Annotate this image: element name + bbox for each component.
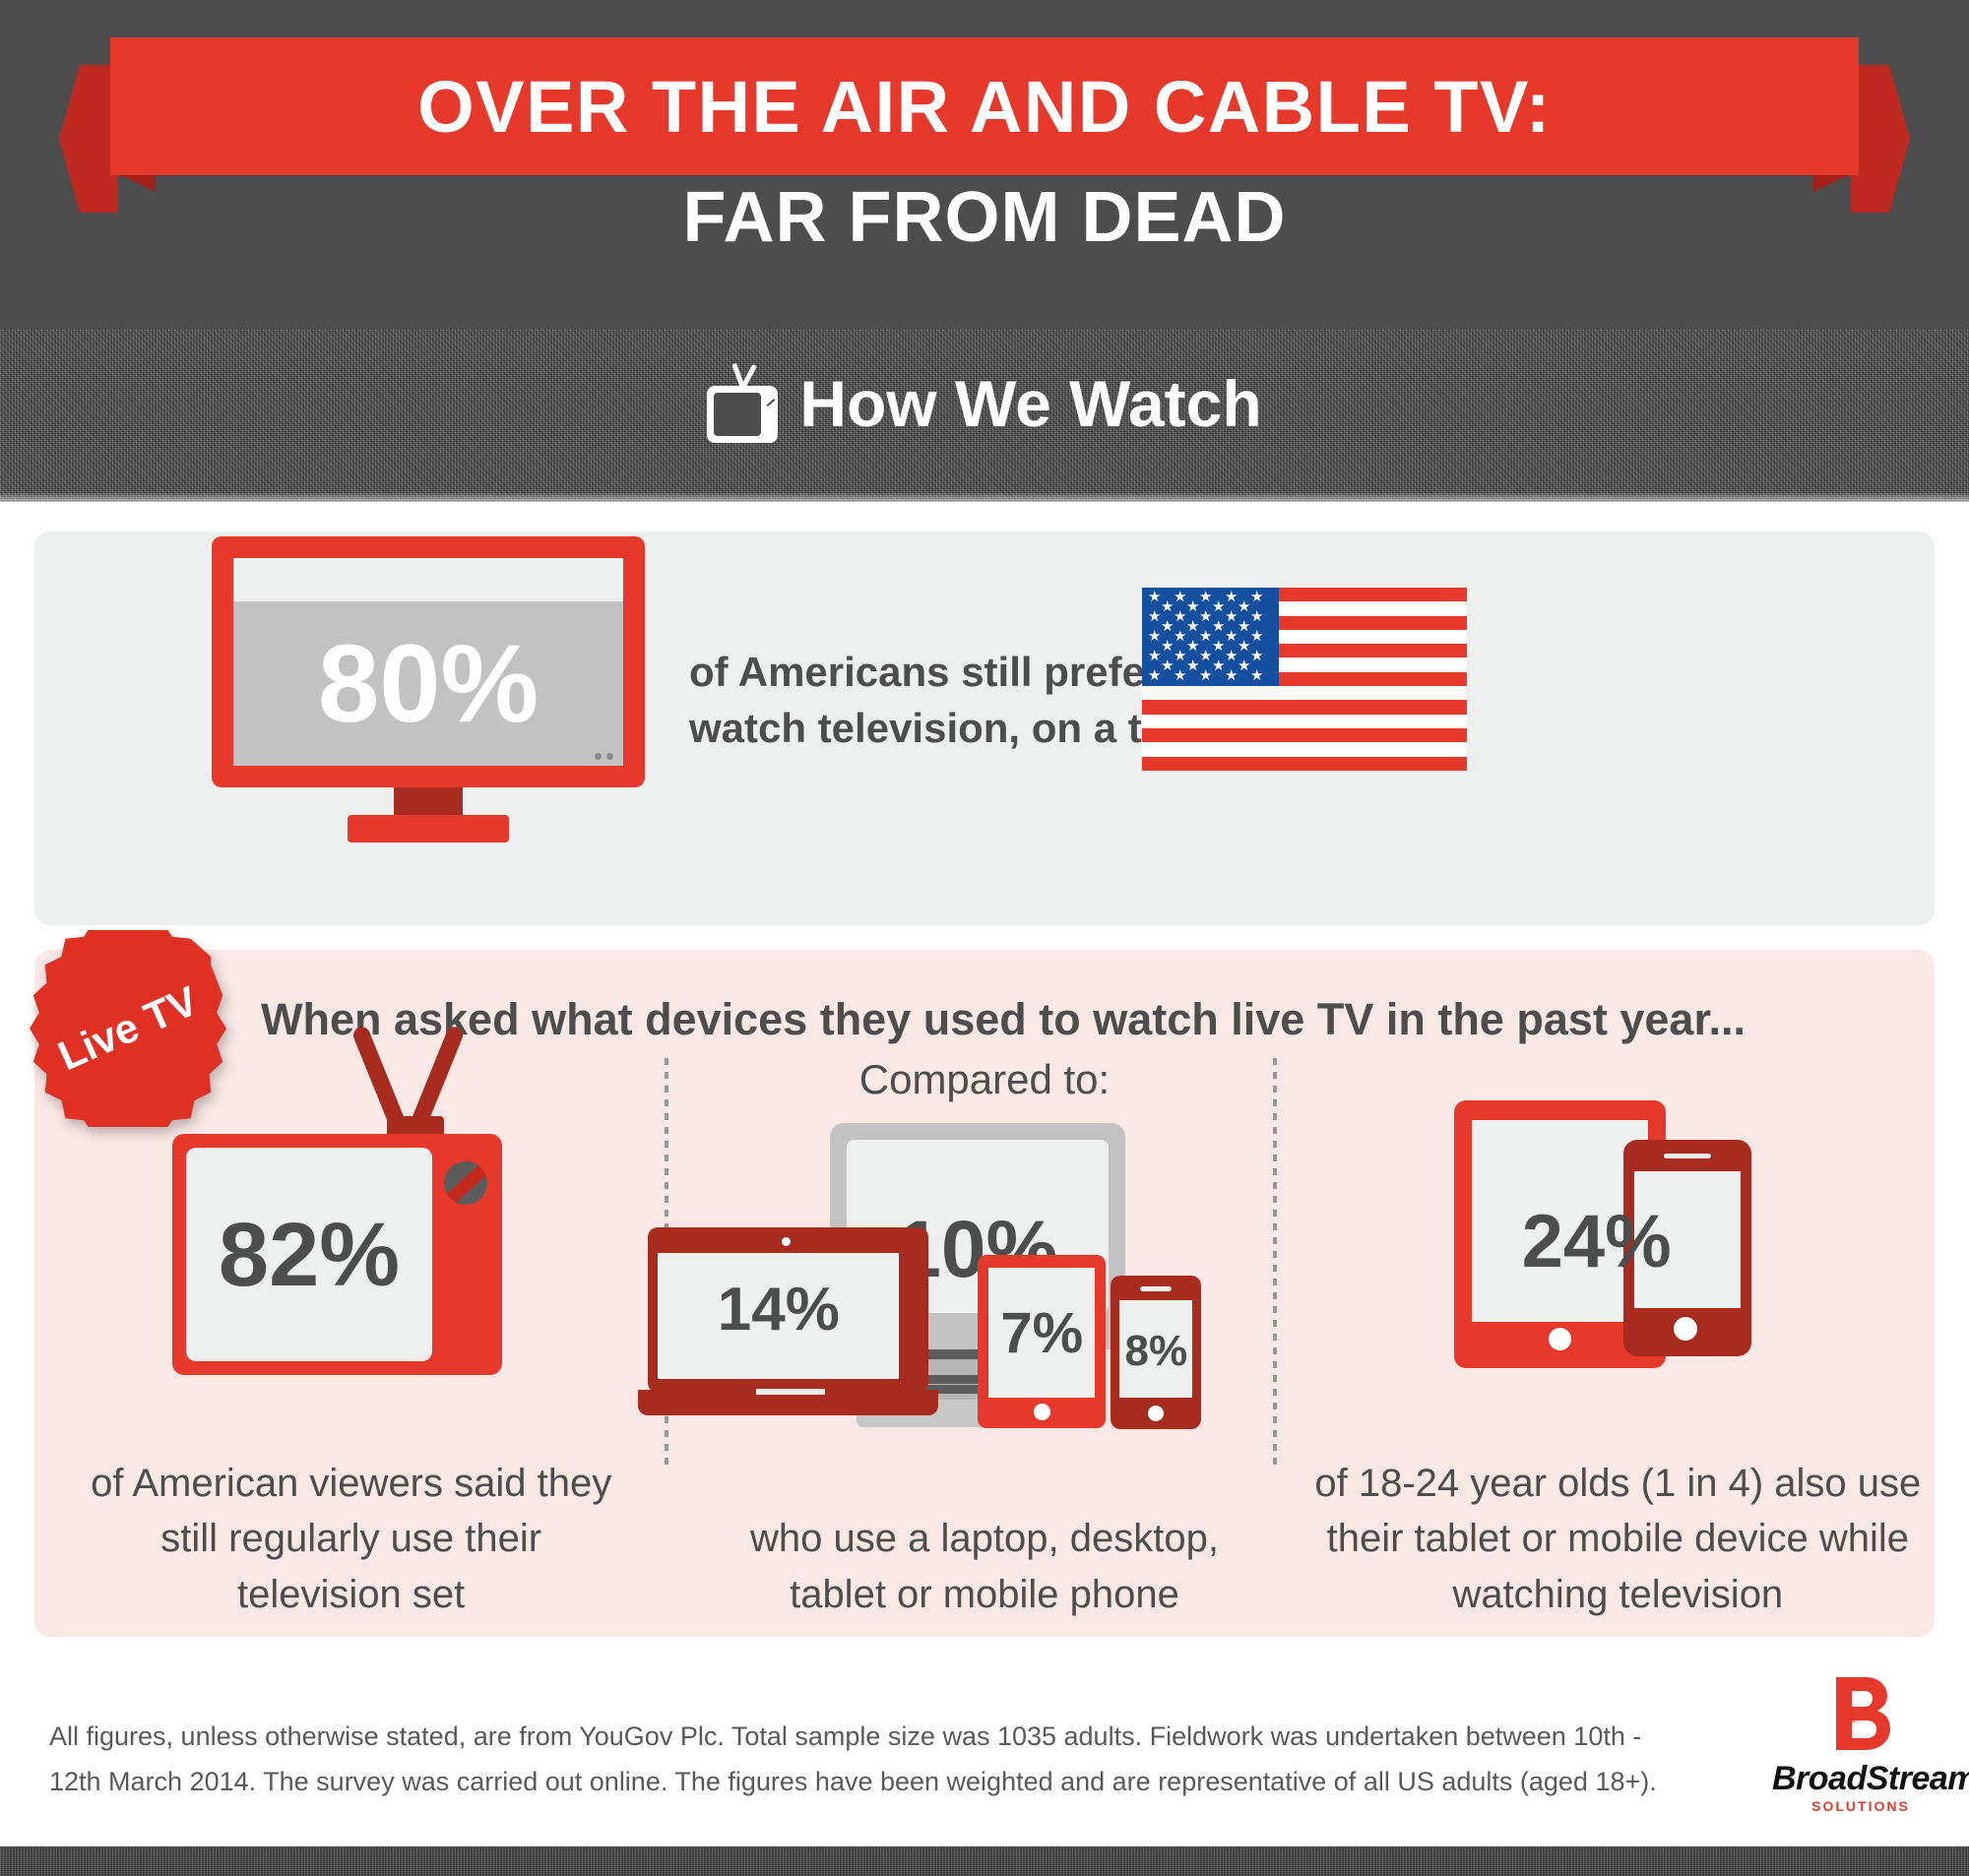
compared-to-label: Compared to: — [667, 1056, 1301, 1103]
second-screen-phone-speaker — [1664, 1154, 1711, 1158]
laptop-trackpad — [756, 1389, 825, 1395]
stat-82-percent: 82% — [219, 1210, 400, 1300]
infographic-root: OVER THE AIR AND CABLE TV: FAR FROM DEAD… — [0, 0, 1969, 1876]
broadstream-tagline: SOLUTIONS — [1772, 1798, 1949, 1814]
phone-speaker — [1140, 1286, 1172, 1291]
caption-television: of American viewers said they still regu… — [34, 1456, 667, 1623]
caption-devices: who use a laptop, desktop, tablet or mob… — [667, 1511, 1301, 1623]
monitor-frame: 80% — [212, 536, 645, 787]
page-title-line2: FAR FROM DEAD — [0, 177, 1969, 258]
caption-second-screen: of 18-24 year olds (1 in 4) also use the… — [1302, 1456, 1935, 1623]
stat-column-second-screen: 24% of 18-24 year olds (1 in 4) also use… — [1302, 1066, 1935, 1617]
monitor-base — [348, 815, 509, 843]
retro-tv-screen: 82% — [186, 1148, 432, 1361]
source-footnote: All figures, unless otherwise stated, ar… — [49, 1715, 1683, 1805]
monitor-screen: 80% — [233, 601, 623, 766]
monitor-indicator-dots — [595, 753, 613, 760]
section-heading-label: How We Watch — [799, 366, 1261, 441]
usa-flag-icon: ★★ ★★ ★ ★★ ★★ ★★ ★★ ★ ★★ ★★ ★★ ★★ ★ ★★ ★… — [1142, 588, 1467, 771]
desktop-monitor-icon: 80% — [182, 512, 674, 827]
stat-column-devices: Compared to: 10% 14% — [667, 1066, 1301, 1617]
stat-column-television: 82% of American viewers said they still … — [34, 1066, 667, 1617]
monitor-neck — [394, 787, 463, 817]
ribbon-band: OVER THE AIR AND CABLE TV: — [110, 37, 1859, 175]
phone-icon: 8% — [1111, 1276, 1201, 1429]
stat-columns: 82% of American viewers said they still … — [34, 1066, 1935, 1617]
retro-television-icon: 82% — [172, 1091, 527, 1386]
live-tv-badge: Live TV — [30, 930, 226, 1127]
retro-tv-knob — [444, 1161, 487, 1205]
section-heading-how-we-watch: How We Watch — [0, 364, 1969, 443]
badge-label: Live TV — [0, 899, 258, 1158]
broadstream-wordmark: BroadStream — [1772, 1762, 1949, 1795]
panel-preference: 80% of Americans still prefer to watch t… — [34, 532, 1935, 925]
tablet-phone-icon: 24% — [1454, 1100, 1789, 1386]
stat-7-percent: 7% — [978, 1300, 1106, 1366]
survey-question: When asked what devices they used to wat… — [261, 994, 1885, 1045]
tv-antenna-right — [732, 363, 746, 389]
second-screen-tablet-button — [1549, 1328, 1571, 1350]
laptop-icon: 14% — [638, 1227, 953, 1424]
title-ribbon: OVER THE AIR AND CABLE TV: — [59, 37, 1910, 175]
page-title-line1: OVER THE AIR AND CABLE TV: — [417, 65, 1552, 149]
panel-live-tv: When asked what devices they used to wat… — [34, 950, 1935, 1637]
bottom-noise-band — [0, 1846, 1969, 1876]
stat-24-percent: 24% — [1454, 1199, 1740, 1284]
second-screen-phone-button — [1674, 1317, 1697, 1341]
stat-8-percent: 8% — [1111, 1327, 1201, 1376]
stat-14-percent: 14% — [658, 1275, 899, 1344]
broadstream-b-mark-icon — [1816, 1673, 1905, 1758]
retro-tv-icon — [707, 364, 778, 443]
stat-80-percent: 80% — [318, 629, 539, 739]
monitor-top-bar — [233, 558, 623, 601]
device-cluster-icon: 10% 14% 7% — [638, 1123, 1288, 1418]
flag-canton: ★★ ★★ ★ ★★ ★★ ★★ ★★ ★ ★★ ★★ ★★ ★★ ★ ★★ ★… — [1142, 588, 1279, 686]
tv-screen — [714, 393, 761, 436]
tablet-icon: 7% — [978, 1255, 1106, 1428]
broadstream-logo: BroadStream SOLUTIONS — [1772, 1673, 1949, 1821]
